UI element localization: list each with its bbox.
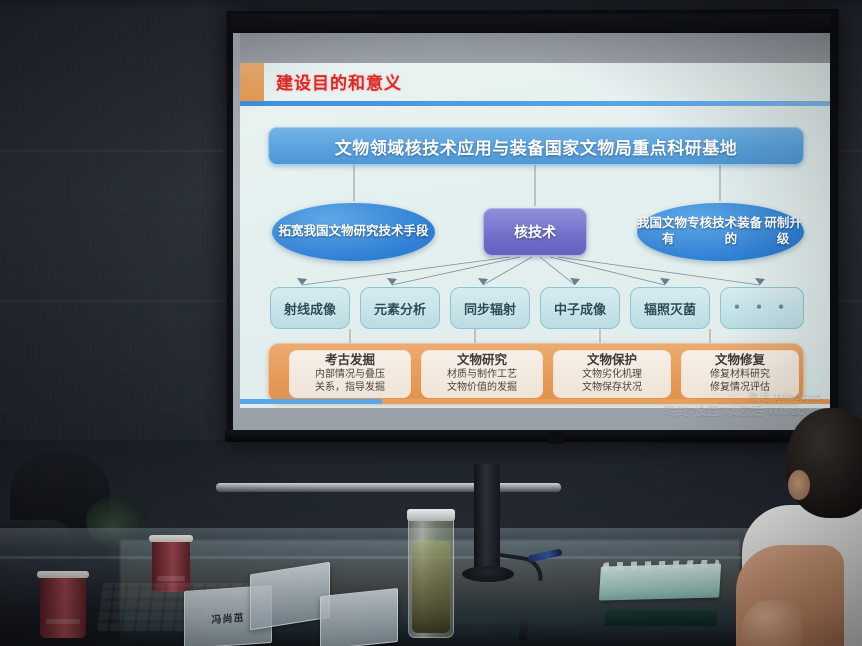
outcome-line2-0: 关系，指导发掘 xyxy=(315,382,385,395)
name-placard xyxy=(320,588,398,646)
projection-screen-bottom-bar xyxy=(225,430,837,442)
watermark-line-2: 转到"设置"以激活 Windows xyxy=(663,404,822,418)
cup-band xyxy=(46,619,81,624)
outcome-title-2: 文物保护 xyxy=(587,354,637,368)
outcome-line1-2: 文物劣化机理 xyxy=(582,369,642,382)
watermark-line-1: 激活 Windows xyxy=(663,391,822,404)
cup-lid xyxy=(37,571,89,578)
outcome-line1-1: 材质与制作工艺 xyxy=(447,369,517,382)
slide-diagram: 文物领域核技术应用与装备国家文物局重点科研基地 拓宽我国文物 研究技术手段 核技… xyxy=(240,105,830,405)
outcome-line2-2: 文物保存状况 xyxy=(582,382,642,395)
windows-activation-watermark: 激活 Windows 转到"设置"以激活 Windows xyxy=(663,391,822,418)
closed-notebook[interactable] xyxy=(604,610,717,626)
outcome-card-0: 考古发掘 内部情况与叠压 关系，指导发掘 xyxy=(289,350,411,398)
slide-title: 建设目的和意义 xyxy=(276,69,402,94)
spiral-notebook[interactable] xyxy=(599,563,721,600)
tech-chip-3: 中子成像 xyxy=(540,287,620,329)
diagram-banner-node: 文物领域核技术应用与装备国家文物局重点科研基地 xyxy=(268,127,804,165)
outcome-card-1: 文物研究 材质与制作工艺 文物价值的发掘 xyxy=(421,350,543,398)
outcome-title-1: 文物研究 xyxy=(457,354,507,368)
goal-left-line2: 研究技术手段 xyxy=(354,224,429,240)
placard-name: 冯尚茁 xyxy=(212,608,245,625)
tech-chip-4: 辐照灭菌 xyxy=(630,287,710,329)
projection-screen-handle[interactable] xyxy=(548,432,565,444)
cup-lid xyxy=(149,535,193,542)
tech-chip-2: 同步辐射 xyxy=(450,287,530,329)
projection-screen-surface: 建设目的和意义 xyxy=(233,33,830,430)
diagram-goal-right-node: 我国文物专有 核技术装备的 研制升级 xyxy=(637,203,804,261)
outcome-title-0: 考古发掘 xyxy=(325,354,375,368)
outcome-line1-0: 内部情况与叠压 xyxy=(315,369,385,382)
tech-chip-ellipsis: • • • xyxy=(720,287,804,329)
tech-chip-0: 射线成像 xyxy=(270,287,350,329)
projection-screen-roller xyxy=(216,483,561,492)
goal-right-line3: 研制升级 xyxy=(762,216,804,247)
ellipsis-icon: • • • xyxy=(734,299,790,317)
seated-attendee-hand xyxy=(742,600,802,646)
outcome-line2-1: 文物价值的发掘 xyxy=(447,382,517,395)
paper-coffee-cup xyxy=(40,576,86,638)
tea-leaves xyxy=(412,541,450,633)
conference-microphone[interactable] xyxy=(474,464,500,580)
glass-tea-jar xyxy=(408,514,454,638)
diagram-goal-left-node: 拓宽我国文物 研究技术手段 xyxy=(272,203,435,261)
conference-room-photo: 建设目的和意义 xyxy=(0,0,862,646)
diagram-center-node: 核技术 xyxy=(483,208,587,256)
outcome-line1-3: 修复材料研究 xyxy=(710,369,770,382)
outcome-card-2: 文物保护 文物劣化机理 文物保存状况 xyxy=(553,350,671,398)
slide-top-band xyxy=(240,33,830,63)
microphone-base xyxy=(462,566,514,582)
goal-right-line2: 核技术装备的 xyxy=(700,216,763,247)
notebook-rings xyxy=(603,559,720,570)
seated-attendee-head xyxy=(786,408,862,518)
jar-cap xyxy=(407,509,455,521)
presentation-slide: 建设目的和意义 xyxy=(240,33,830,408)
goal-right-line1: 我国文物专有 xyxy=(637,216,700,247)
slide-title-accent-bar xyxy=(240,63,264,101)
seated-attendee-ear xyxy=(788,470,810,500)
goal-left-line1: 拓宽我国文物 xyxy=(278,224,353,240)
cup-band xyxy=(157,576,186,581)
diagram-technology-row: 射线成像 元素分析 同步辐射 中子成像 辐照灭菌 • • • xyxy=(240,287,830,329)
tech-chip-1: 元素分析 xyxy=(360,287,440,329)
outcome-title-3: 文物修复 xyxy=(715,354,765,368)
